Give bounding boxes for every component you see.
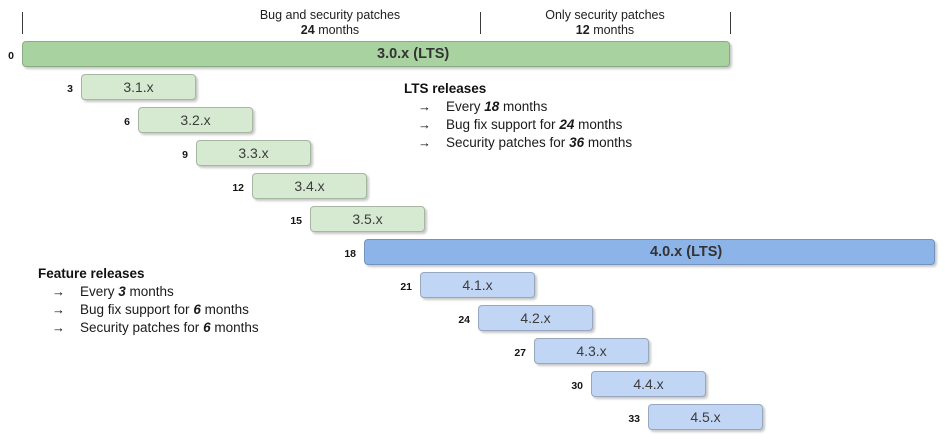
legend-lts-releases-row-text: Every 18 months: [446, 99, 547, 114]
legend-lts-releases-row-suffix: months: [574, 117, 622, 132]
bar-3-1-x-month-marker: 3: [37, 83, 73, 95]
arrow-right-icon: →: [404, 117, 446, 132]
bar-3-4-x-label: 3.4.x: [294, 178, 324, 194]
legend-feature-releases-row-text: Security patches for 6 months: [80, 320, 259, 335]
arrow-right-icon: →: [404, 99, 446, 114]
legend-feature-releases-row-text: Bug fix support for 6 months: [80, 302, 249, 317]
bar-3-1-x[interactable]: 3.1.x: [81, 74, 196, 100]
arrow-right-icon: →: [38, 320, 80, 335]
legend-lts-releases-row-prefix: Every: [446, 99, 484, 114]
bar-3-5-x[interactable]: 3.5.x: [310, 206, 425, 232]
bar-4-4-x-label: 4.4.x: [633, 376, 663, 392]
tick-month-36: [730, 12, 731, 34]
arrow-right-icon: →: [38, 302, 80, 317]
bar-4-0-x[interactable]: 4.0.x (LTS): [364, 239, 935, 265]
bar-4-1-x[interactable]: 4.1.x: [420, 272, 535, 298]
bar-3-5-x-month-marker: 15: [266, 215, 302, 227]
span-bug-and-security-duration-value: 24: [301, 23, 315, 37]
bar-3-5-x-label: 3.5.x: [352, 211, 382, 227]
bar-4-0-x-label: 4.0.x (LTS): [650, 244, 722, 260]
span-only-security-title: Only security patches: [480, 8, 730, 23]
legend-feature-releases-row-suffix: months: [211, 320, 259, 335]
span-only-security: Only security patches12 months: [480, 8, 730, 38]
legend-lts-releases-row-prefix: Security patches for: [446, 135, 569, 150]
legend-lts-releases-row-value: 36: [569, 135, 584, 150]
span-bug-and-security-duration-unit: months: [318, 23, 359, 37]
bar-3-0-x[interactable]: 3.0.x (LTS): [22, 41, 730, 67]
legend-feature-releases-row: →Bug fix support for 6 months: [38, 302, 259, 320]
bar-4-5-x-month-marker: 33: [604, 413, 640, 425]
legend-lts-releases-row-suffix: months: [499, 99, 547, 114]
bar-3-3-x-month-marker: 9: [152, 149, 188, 161]
bar-3-4-x-month-marker: 12: [208, 182, 244, 194]
legend-feature-releases-row-suffix: months: [201, 302, 249, 317]
span-bug-and-security: Bug and security patches24 months: [180, 8, 480, 38]
legend-feature-releases-row-prefix: Bug fix support for: [80, 302, 193, 317]
bar-4-4-x[interactable]: 4.4.x: [591, 371, 706, 397]
legend-feature-releases: Feature releases→Every 3 months→Bug fix …: [38, 266, 259, 338]
legend-lts-releases-row-text: Security patches for 36 months: [446, 135, 632, 150]
legend-lts-releases-row-text: Bug fix support for 24 months: [446, 117, 622, 132]
legend-feature-releases-row: →Security patches for 6 months: [38, 320, 259, 338]
legend-feature-releases-title: Feature releases: [38, 266, 259, 281]
bar-4-5-x[interactable]: 4.5.x: [648, 404, 763, 430]
bar-4-2-x-month-marker: 24: [434, 314, 470, 326]
legend-feature-releases-row-prefix: Every: [80, 284, 118, 299]
bar-3-1-x-label: 3.1.x: [123, 79, 153, 95]
arrow-right-icon: →: [38, 284, 80, 299]
legend-lts-releases-row: →Every 18 months: [404, 99, 632, 117]
bar-4-3-x-label: 4.3.x: [576, 343, 606, 359]
bar-3-2-x-month-marker: 6: [94, 116, 130, 128]
span-bug-and-security-title: Bug and security patches: [180, 8, 480, 23]
legend-lts-releases-row-prefix: Bug fix support for: [446, 117, 559, 132]
span-only-security-duration-value: 12: [576, 23, 590, 37]
bar-4-3-x-month-marker: 27: [490, 347, 526, 359]
bar-4-1-x-month-marker: 21: [376, 281, 412, 293]
bar-3-3-x-label: 3.3.x: [238, 145, 268, 161]
bar-4-5-x-label: 4.5.x: [690, 409, 720, 425]
release-timeline-diagram: Bug and security patches24 monthsOnly se…: [0, 0, 945, 440]
legend-feature-releases-row: →Every 3 months: [38, 284, 259, 302]
tick-month-0: [22, 12, 23, 34]
legend-feature-releases-row-suffix: months: [126, 284, 174, 299]
bar-4-3-x[interactable]: 4.3.x: [534, 338, 649, 364]
bar-3-3-x[interactable]: 3.3.x: [196, 140, 311, 166]
bar-3-0-x-label: 3.0.x (LTS): [377, 46, 449, 62]
legend-lts-releases-title: LTS releases: [404, 81, 632, 96]
legend-feature-releases-row-value: 6: [193, 302, 201, 317]
bar-4-2-x-label: 4.2.x: [520, 310, 550, 326]
bar-4-4-x-month-marker: 30: [547, 380, 583, 392]
bar-3-4-x[interactable]: 3.4.x: [252, 173, 367, 199]
bar-3-2-x-label: 3.2.x: [180, 112, 210, 128]
bar-3-2-x[interactable]: 3.2.x: [138, 107, 253, 133]
arrow-right-icon: →: [404, 135, 446, 150]
legend-lts-releases-row-suffix: months: [584, 135, 632, 150]
bar-4-2-x[interactable]: 4.2.x: [478, 305, 593, 331]
bar-4-1-x-label: 4.1.x: [462, 277, 492, 293]
legend-lts-releases-row: →Bug fix support for 24 months: [404, 117, 632, 135]
legend-feature-releases-row-value: 6: [203, 320, 211, 335]
legend-lts-releases-row-value: 24: [559, 117, 574, 132]
legend-lts-releases: LTS releases→Every 18 months→Bug fix sup…: [404, 81, 632, 153]
legend-feature-releases-row-value: 3: [118, 284, 126, 299]
legend-lts-releases-row-value: 18: [484, 99, 499, 114]
span-only-security-duration: 12 months: [480, 23, 730, 38]
bar-4-0-x-month-marker: 18: [320, 248, 356, 260]
legend-feature-releases-row-prefix: Security patches for: [80, 320, 203, 335]
bar-3-0-x-month-marker: 0: [0, 50, 14, 62]
span-bug-and-security-duration: 24 months: [180, 23, 480, 38]
legend-feature-releases-row-text: Every 3 months: [80, 284, 174, 299]
legend-lts-releases-row: →Security patches for 36 months: [404, 135, 632, 153]
span-only-security-duration-unit: months: [593, 23, 634, 37]
